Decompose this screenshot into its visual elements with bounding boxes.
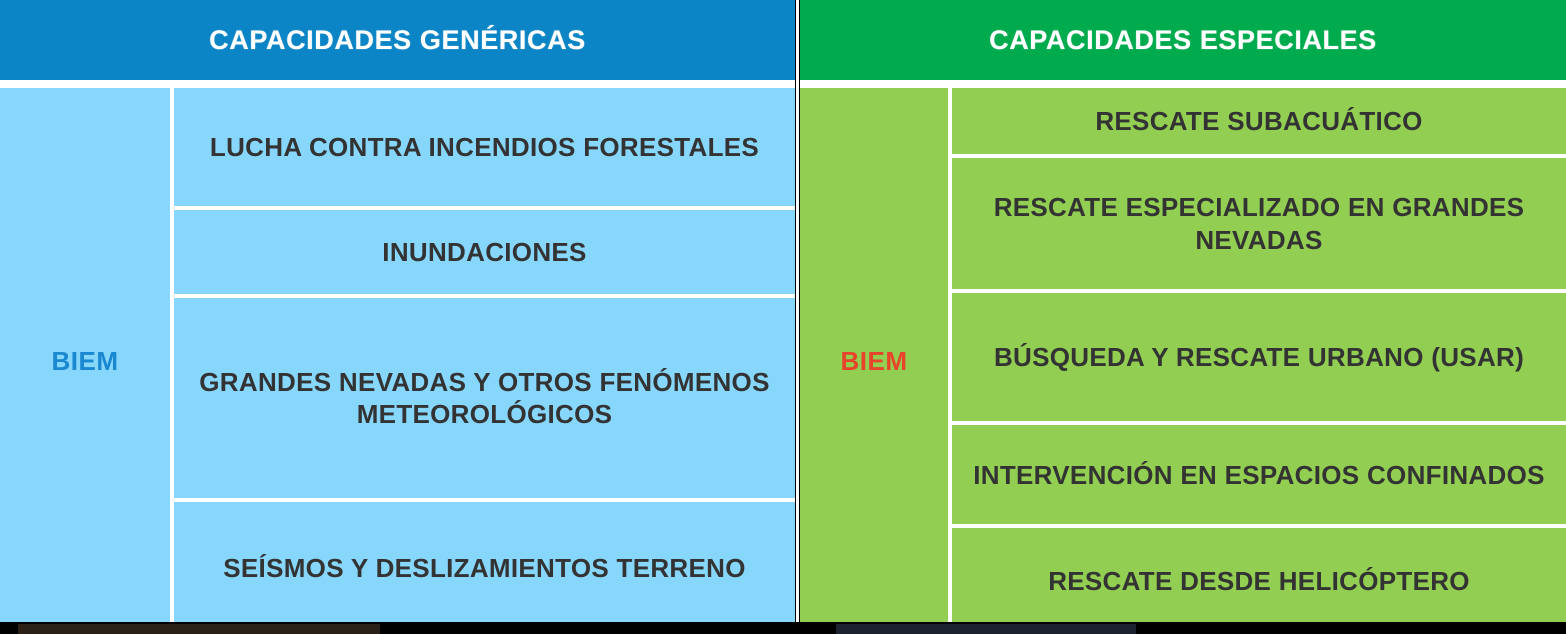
capability-cell: LUCHA CONTRA INCENDIOS FORESTALES [174,88,795,206]
capability-cell: INTERVENCIÓN EN ESPACIOS CONFINADOS [952,425,1566,524]
rows-column-especiales: RESCATE SUBACUÁTICO RESCATE ESPECIALIZAD… [952,88,1566,634]
gutter-rule-left [795,0,796,634]
capability-cell: GRANDES NEVADAS Y OTROS FENÓMENOS METEOR… [174,298,795,498]
capability-cell: RESCATE SUBACUÁTICO [952,88,1566,154]
unit-column-biem-genericas: BIEM [0,88,170,634]
capability-cell: RESCATE ESPECIALIZADO EN GRANDES NEVADAS [952,158,1566,289]
capability-cell: SEÍSMOS Y DESLIZAMIENTOS TERRENO [174,502,795,634]
bottom-edge-fragment [18,624,380,634]
unit-column-biem-especiales: BIEM [800,88,948,634]
capability-cell: RESCATE DESDE HELICÓPTERO [952,528,1566,634]
panel-capacidades-especiales: CAPACIDADES ESPECIALES BIEM RESCATE SUBA… [800,0,1566,634]
header-divider-right [800,80,1566,88]
panel-capacidades-genericas: CAPACIDADES GENÉRICAS BIEM LUCHA CONTRA … [0,0,795,634]
header-divider-left [0,80,795,88]
panel-body-genericas: BIEM LUCHA CONTRA INCENDIOS FORESTALES I… [0,88,795,634]
header-capacidades-genericas: CAPACIDADES GENÉRICAS [0,0,795,80]
capacities-table-page: CAPACIDADES GENÉRICAS BIEM LUCHA CONTRA … [0,0,1566,634]
bottom-edge-fragment [836,624,1136,634]
rows-column-genericas: LUCHA CONTRA INCENDIOS FORESTALES INUNDA… [174,88,795,634]
panel-body-especiales: BIEM RESCATE SUBACUÁTICO RESCATE ESPECIA… [800,88,1566,634]
capability-cell: INUNDACIONES [174,210,795,294]
header-capacidades-especiales: CAPACIDADES ESPECIALES [800,0,1566,80]
screenshot-bottom-edge [0,622,1566,634]
capability-cell: BÚSQUEDA Y RESCATE URBANO (USAR) [952,293,1566,421]
